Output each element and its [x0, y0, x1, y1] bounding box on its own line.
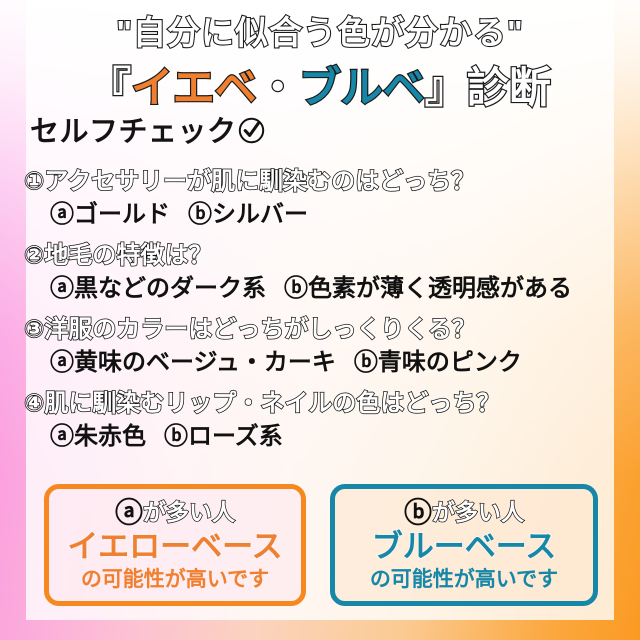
option-a-mark: ⓐ	[50, 349, 74, 376]
content-layer: "自分に似合う色が分かる" 『イエベ・ブルベ』診断 セルフチェック ①アクセサリ…	[0, 0, 640, 640]
result-heading: ⓑが多い人	[404, 498, 524, 529]
result-heading-text: が多い人	[432, 499, 524, 525]
title-yellow-base: イエベ	[131, 64, 257, 111]
question-body: 洋服のカラーはどっちがしっくりくる？	[44, 316, 476, 343]
question-options: ⓐゴールドⓑシルバー	[50, 201, 630, 229]
question-number: ②	[24, 242, 44, 269]
option-a-label: 朱赤色	[74, 423, 146, 450]
question-body: 肌に馴染むリップ・ネイルの色はどっち？	[44, 390, 500, 417]
result-title: イエローベース	[67, 530, 282, 565]
result-mark-b: ⓑ	[404, 497, 432, 528]
question-number: ④	[24, 390, 44, 417]
question-text: ①アクセサリーが肌に馴染むのはどっち？	[24, 168, 630, 196]
option-a-mark: ⓐ	[50, 201, 74, 228]
option-a-label: 黄味のベージュ・カーキ	[74, 349, 336, 376]
result-box-blue-base: ⓑが多い人 ブルーベース の可能性が高いです	[330, 484, 598, 606]
question-text: ④肌に馴染むリップ・ネイルの色はどっち？	[24, 390, 630, 418]
option-a-mark: ⓐ	[50, 275, 74, 302]
option-a-label: ゴールド	[74, 201, 170, 228]
result-heading: ⓐが多い人	[115, 498, 235, 529]
question-item: ④肌に馴染むリップ・ネイルの色はどっち？ ⓐ朱赤色ⓑローズ系	[24, 390, 630, 451]
title-blue-base: ブルベ	[299, 64, 425, 111]
option-b-mark: ⓑ	[188, 201, 212, 228]
result-mark-a: ⓐ	[115, 497, 143, 528]
option-b-label: シルバー	[212, 201, 308, 228]
question-text: ③洋服のカラーはどっちがしっくりくる？	[24, 316, 630, 344]
option-a-label: 黒などのダーク系	[74, 275, 266, 302]
result-box-yellow-base: ⓐが多い人 イエローベース の可能性が高いです	[44, 484, 306, 606]
question-number: ①	[24, 168, 44, 195]
question-options: ⓐ黄味のベージュ・カーキⓑ青味のピンク	[50, 349, 630, 377]
result-subtitle: の可能性が高いです	[81, 568, 269, 592]
self-check-label: セルフチェック	[30, 116, 237, 148]
question-item: ①アクセサリーが肌に馴染むのはどっち？ ⓐゴールドⓑシルバー	[24, 168, 630, 229]
option-a-mark: ⓐ	[50, 423, 74, 450]
option-b-mark: ⓑ	[284, 275, 308, 302]
page-title: 『イエベ・ブルベ』診断	[0, 54, 640, 115]
question-options: ⓐ朱赤色ⓑローズ系	[50, 423, 630, 451]
option-b-mark: ⓑ	[354, 349, 378, 376]
self-check-heading: セルフチェック	[30, 108, 265, 152]
quote-subtitle: "自分に似合う色が分かる"	[0, 6, 640, 54]
option-b-label: 色素が薄く透明感がある	[308, 275, 572, 302]
question-options: ⓐ黒などのダーク系ⓑ色素が薄く透明感がある	[50, 275, 630, 303]
option-b-mark: ⓑ	[164, 423, 188, 450]
option-b-label: ローズ系	[188, 423, 283, 450]
option-b-label: 青味のピンク	[378, 349, 522, 376]
question-number: ③	[24, 316, 44, 343]
result-heading-text: が多い人	[143, 499, 235, 525]
result-title: ブルーベース	[372, 530, 556, 565]
question-body: 地毛の特徴は？	[44, 242, 212, 269]
question-body: アクセサリーが肌に馴染むのはどっち？	[44, 168, 475, 195]
title-suffix: 診断	[467, 64, 551, 111]
result-subtitle: の可能性が高いです	[370, 568, 558, 592]
question-text: ②地毛の特徴は？	[24, 242, 630, 270]
question-item: ③洋服のカラーはどっちがしっくりくる？ ⓐ黄味のベージュ・カーキⓑ青味のピンク	[24, 316, 630, 377]
title-bracket-open: 『	[89, 64, 131, 111]
questions-list: ①アクセサリーが肌に馴染むのはどっち？ ⓐゴールドⓑシルバー ②地毛の特徴は？ …	[24, 168, 630, 464]
title-separator: ・	[257, 64, 299, 111]
question-item: ②地毛の特徴は？ ⓐ黒などのダーク系ⓑ色素が薄く透明感がある	[24, 242, 630, 303]
title-bracket-close: 』	[425, 64, 467, 111]
circled-check-icon	[238, 117, 265, 152]
infographic-canvas: "自分に似合う色が分かる" 『イエベ・ブルベ』診断 セルフチェック ①アクセサリ…	[0, 0, 640, 640]
